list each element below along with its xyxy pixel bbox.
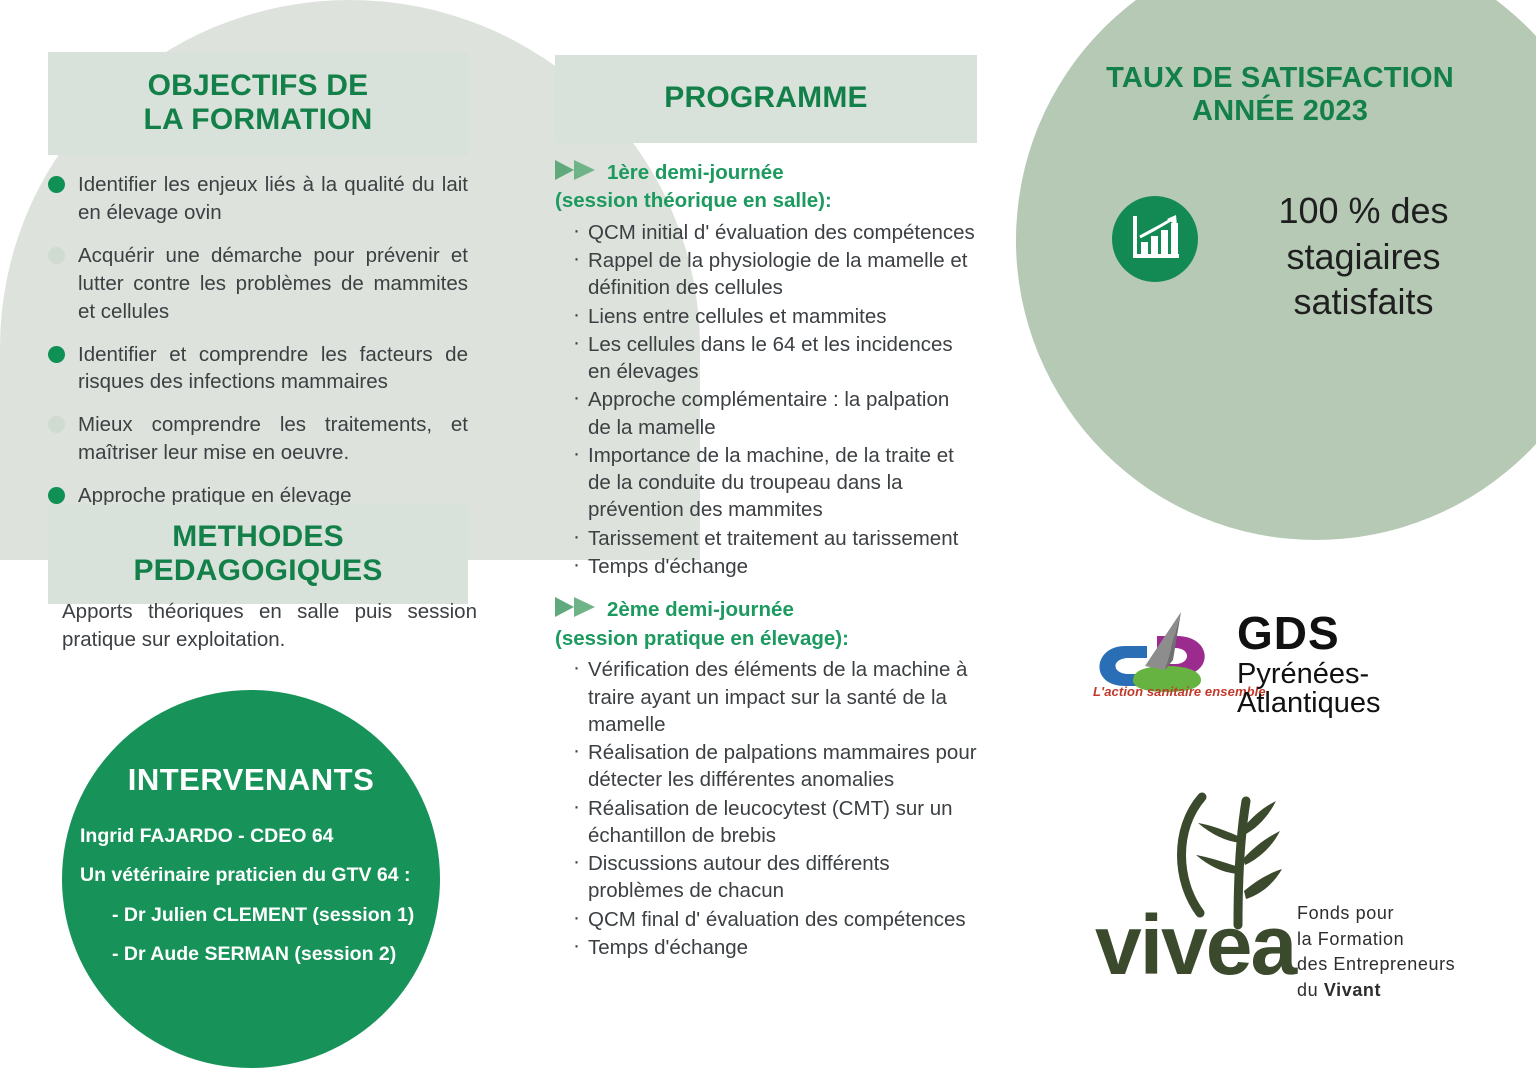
satisfaction-heading-line1: TAUX DE SATISFACTION bbox=[1106, 62, 1454, 94]
speakers-title: INTERVENANTS bbox=[62, 762, 440, 798]
list-item: Temps d'échange bbox=[588, 934, 977, 961]
bullet-dot-icon bbox=[48, 416, 65, 433]
methods-heading-line2: PEDAGOGIQUES bbox=[133, 554, 382, 587]
list-item: - Dr Julien CLEMENT (session 1) bbox=[80, 904, 444, 927]
bullet-dot-icon bbox=[48, 176, 65, 193]
bullet-dot-icon bbox=[48, 247, 65, 264]
list-item: Identifier les enjeux liés à la qualité … bbox=[48, 171, 468, 227]
list-item: Acquérir une démarche pour prévenir et l… bbox=[48, 242, 468, 326]
programme-heading: PROGRAMME bbox=[555, 55, 977, 143]
double-arrow-icon bbox=[555, 159, 597, 189]
vivea-tagline-prefix: du bbox=[1297, 980, 1324, 1000]
session-1-list: QCM initial d' évaluation des compétence… bbox=[555, 219, 977, 580]
list-item-label: Acquérir une démarche pour prévenir et l… bbox=[78, 244, 468, 323]
vivea-tagline-line: Fonds pour bbox=[1297, 901, 1455, 927]
list-item-label: Approche pratique en élevage bbox=[78, 484, 352, 507]
list-item-label: Identifier et comprendre les facteurs de… bbox=[78, 343, 468, 394]
objectives-heading-line2: LA FORMATION bbox=[143, 103, 372, 136]
methods-heading: METHODES PEDAGOGIQUES bbox=[48, 505, 468, 604]
session-2-list: Vérification des éléments de la machine … bbox=[555, 656, 977, 961]
speakers-list: Ingrid FAJARDO - CDEO 64 Un vétérinaire … bbox=[72, 825, 452, 983]
bullet-dot-icon bbox=[48, 487, 65, 504]
list-item: - Dr Aude SERMAN (session 2) bbox=[80, 943, 444, 966]
bullet-dot-icon bbox=[48, 346, 65, 363]
objectives-heading: OBJECTIFS DE LA FORMATION bbox=[48, 52, 468, 155]
list-item: Réalisation de palpations mammaires pour… bbox=[588, 739, 977, 794]
list-item: Les cellules dans le 64 et les incidence… bbox=[588, 331, 977, 386]
vivea-tagline-line-last: du Vivant bbox=[1297, 978, 1455, 1004]
satisfaction-heading-line2: ANNÉE 2023 bbox=[1192, 95, 1368, 127]
brochure-page: OBJECTIFS DE LA FORMATION Identifier les… bbox=[0, 0, 1536, 1087]
objectives-list: Identifier les enjeux liés à la qualité … bbox=[48, 171, 468, 510]
list-item: Identifier et comprendre les facteurs de… bbox=[48, 341, 468, 397]
session-1-title: 1ère demi-journée bbox=[607, 161, 784, 184]
list-item: Tarissement et traitement au tarissement bbox=[588, 525, 977, 552]
list-item: Un vétérinaire praticien du GTV 64 : bbox=[80, 864, 444, 887]
session-2-subtitle: (session pratique en élevage): bbox=[555, 626, 977, 653]
list-item: Discussions autour des différents problè… bbox=[588, 850, 977, 905]
satisfaction-heading: TAUX DE SATISFACTION ANNÉE 2023 bbox=[1064, 62, 1496, 128]
list-item: Approche complémentaire : la palpation d… bbox=[588, 386, 977, 441]
session-1-subtitle: (session théorique en salle): bbox=[555, 188, 977, 215]
vivea-tagline-line: des Entrepreneurs bbox=[1297, 952, 1455, 978]
bar-chart-growth-icon bbox=[1112, 196, 1198, 282]
gds-region: Pyrénées-Atlantiques bbox=[1237, 660, 1475, 718]
vivea-plant-logo: vivea Fonds pour la Formation des Entrep… bbox=[1085, 785, 1485, 1000]
list-item: Importance de la machine, de la traite e… bbox=[588, 442, 977, 524]
vivea-tagline: Fonds pour la Formation des Entrepreneur… bbox=[1297, 901, 1455, 1003]
double-arrow-icon bbox=[555, 596, 597, 626]
list-item-label: Identifier les enjeux liés à la qualité … bbox=[78, 173, 468, 224]
list-item-label: Mieux comprendre les traitements, et maî… bbox=[78, 413, 468, 464]
objectives-section: OBJECTIFS DE LA FORMATION Identifier les… bbox=[48, 52, 468, 525]
list-item: QCM initial d' évaluation des compétence… bbox=[588, 219, 977, 246]
programme-section: PROGRAMME 1ère demi-journée (session thé… bbox=[555, 55, 977, 962]
list-item: Ingrid FAJARDO - CDEO 64 bbox=[80, 825, 444, 848]
session-2-title: 2ème demi-journée bbox=[607, 598, 794, 621]
session-1-heading: 1ère demi-journée (session théorique en … bbox=[555, 159, 977, 215]
list-item: Rappel de la physiologie de la mamelle e… bbox=[588, 247, 977, 302]
list-item: QCM final d' évaluation des compétences bbox=[588, 906, 977, 933]
session-2-heading: 2ème demi-journée (session pratique en é… bbox=[555, 596, 977, 652]
vivea-wordmark: vivea bbox=[1095, 903, 1295, 987]
methods-heading-line1: METHODES bbox=[172, 520, 344, 553]
vivea-tagline-bold: Vivant bbox=[1324, 980, 1381, 1000]
objectives-heading-line1: OBJECTIFS DE bbox=[148, 69, 369, 102]
list-item: Liens entre cellules et mammites bbox=[588, 303, 977, 330]
satisfaction-stat: 100 % des stagiaires satisfaits bbox=[1112, 188, 1512, 325]
gds-name: GDS bbox=[1237, 610, 1340, 656]
gds-swoosh-arrow-logo: L'action sanitaire ensemble GDS Pyrénées… bbox=[1085, 608, 1475, 708]
methods-body-text: Apports théoriques en salle puis session… bbox=[62, 598, 477, 654]
list-item: Réalisation de leucocytest (CMT) sur un … bbox=[588, 795, 977, 850]
list-item: Mieux comprendre les traitements, et maî… bbox=[48, 411, 468, 467]
list-item: Temps d'échange bbox=[588, 553, 977, 580]
vivea-tagline-line: la Formation bbox=[1297, 927, 1455, 953]
list-item: Vérification des éléments de la machine … bbox=[588, 656, 977, 738]
satisfaction-value: 100 % des stagiaires satisfaits bbox=[1236, 188, 1491, 325]
